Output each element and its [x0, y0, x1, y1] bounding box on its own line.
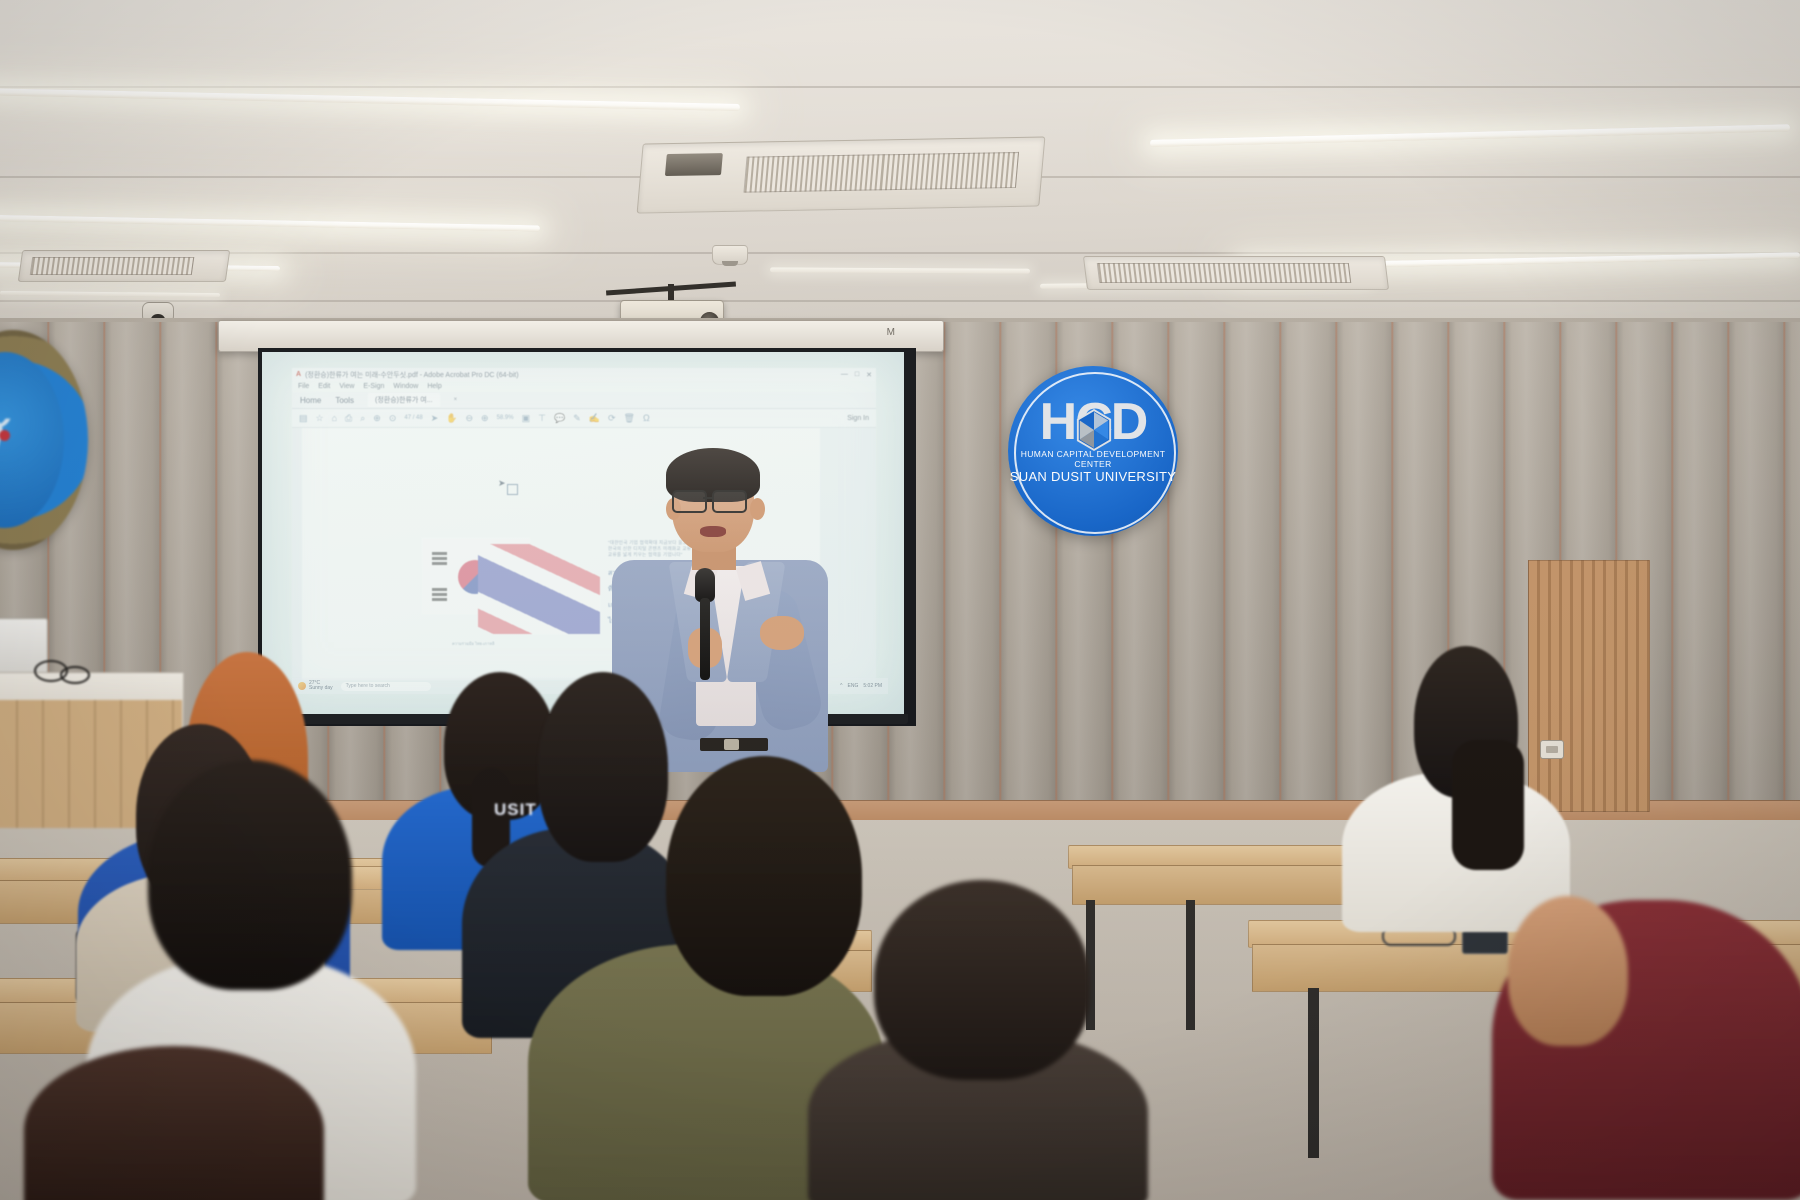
window-controls[interactable]: — □ ✕: [841, 371, 872, 379]
attendee-head: [666, 756, 862, 996]
print-icon[interactable]: ⎙: [345, 414, 352, 423]
hand-tool-icon[interactable]: ✋: [446, 414, 457, 423]
page-indicator[interactable]: 47 / 48: [404, 415, 422, 421]
microphone-head-icon: [695, 568, 715, 602]
desk-leg: [1186, 900, 1195, 1030]
attendee-head: [148, 760, 352, 990]
minimize-icon[interactable]: —: [841, 371, 848, 379]
upload-cloud-icon[interactable]: ⌂: [332, 414, 337, 423]
comment-icon[interactable]: 💬: [554, 414, 565, 423]
ceiling: [0, 0, 1800, 330]
stamp-icon[interactable]: ⟳: [608, 414, 616, 423]
eyeglasses-bridge: [703, 497, 713, 499]
document-tab-close-icon[interactable]: ×: [454, 397, 458, 403]
smartphone-on-desk[interactable]: [1462, 930, 1508, 954]
microphone-body: [700, 598, 710, 680]
screen-case-label: M: [887, 327, 895, 338]
attendee-head: [1508, 896, 1628, 1046]
scroll-mode-icon[interactable]: ⊤: [538, 414, 546, 423]
redact-icon[interactable]: Ω: [643, 414, 650, 423]
acrobat-toolbar[interactable]: ▤ ☆ ⌂ ⎙ ⌕ ⊕ ⊙ 47 / 48 ➤ ✋ ⊖ ⊕ 58.9% ▣ ⊤ …: [292, 409, 876, 428]
polo-logo: USIT: [494, 800, 537, 820]
attendee-head: [874, 880, 1090, 1080]
question-circle-icon[interactable]: ⊕: [373, 414, 381, 423]
acrobat-menu-bar[interactable]: File Edit View E-Sign Window Help: [292, 381, 876, 392]
flags-illustration: [422, 538, 600, 634]
menu-view[interactable]: View: [339, 383, 354, 390]
document-tab[interactable]: (정환승)한류가 여...: [368, 393, 440, 407]
smoke-detector: [712, 245, 748, 265]
sun-icon: [298, 682, 306, 690]
taskbar-search-input[interactable]: Type here to search: [341, 682, 431, 691]
menu-help[interactable]: Help: [427, 383, 441, 390]
led-strip-light: [1150, 124, 1790, 147]
acrobat-title-bar: A (정환승)한류가 여는 미래-수안두싯.pdf - Adobe Acroba…: [292, 368, 876, 381]
laptop-cable: [60, 666, 90, 684]
weather-description: Sunny day: [309, 685, 333, 691]
tab-tools[interactable]: Tools: [335, 396, 354, 405]
weather-widget[interactable]: 27°C Sunny day: [298, 681, 333, 692]
hexagon-aperture-icon: [1075, 408, 1113, 452]
ac-cassette-vent: [18, 250, 230, 282]
selection-marker: [507, 484, 518, 495]
belt-buckle-icon: [724, 739, 739, 750]
led-strip-light: [0, 291, 220, 297]
presenter-ear: [750, 498, 765, 520]
handheld-microphone[interactable]: [695, 568, 715, 678]
led-strip-light: [0, 88, 740, 111]
mouse-cursor-icon: ➤: [498, 478, 506, 489]
sign-in-button[interactable]: Sign In: [847, 415, 869, 422]
zoom-in-icon[interactable]: ⊕: [481, 414, 489, 423]
zoom-level[interactable]: 58.9%: [497, 415, 514, 421]
thailand-flag: [478, 544, 600, 634]
close-icon[interactable]: ✕: [866, 371, 872, 379]
menu-esign[interactable]: E-Sign: [363, 383, 384, 390]
hcd-subtitle-line2: SUAN DUSIT UNIVERSITY: [1008, 469, 1178, 484]
maximize-icon[interactable]: □: [855, 371, 859, 379]
menu-edit[interactable]: Edit: [318, 383, 330, 390]
ac-cassette-vent: [1083, 256, 1389, 290]
acrobat-tab-bar[interactable]: Home Tools (정환승)한류가 여... ×: [292, 392, 876, 409]
search-icon[interactable]: ⌕: [360, 414, 365, 423]
page-fit-icon[interactable]: ▣: [522, 414, 531, 423]
download-circle-icon[interactable]: ⊙: [389, 414, 397, 423]
wood-slat-panel: [1528, 560, 1650, 812]
select-arrow-icon[interactable]: ➤: [431, 414, 439, 423]
led-strip-light: [0, 215, 540, 232]
tab-home[interactable]: Home: [300, 396, 321, 405]
attendee-head: [538, 672, 668, 862]
left-navigation-rail[interactable]: [292, 428, 302, 680]
presenter-gesturing-hand: [760, 616, 804, 650]
hcd-subtitle-line1: HUMAN CAPITAL DEVELOPMENT CENTER: [1008, 449, 1178, 469]
led-strip-light: [770, 267, 1030, 273]
desk-leg: [1308, 988, 1319, 1158]
slide-caption: ความร่วมมือ ไทย-เกาหลี: [452, 640, 494, 647]
clock[interactable]: 5:02 PM: [863, 683, 882, 689]
trash-icon[interactable]: 🗑: [624, 414, 635, 423]
save-icon[interactable]: ▤: [299, 414, 308, 423]
power-outlet: [1540, 740, 1564, 759]
star-icon[interactable]: ☆: [316, 414, 324, 423]
menu-window[interactable]: Window: [393, 383, 418, 390]
highlight-pen-icon[interactable]: ✎: [573, 414, 581, 423]
zoom-out-icon[interactable]: ⊖: [466, 414, 474, 423]
acrobat-app-icon: A: [296, 371, 301, 378]
menu-file[interactable]: File: [298, 383, 309, 390]
attendee-hair-length: [1452, 740, 1524, 870]
window-title: (정환승)한류가 여는 미래-수안두싯.pdf - Adobe Acrobat …: [305, 370, 519, 380]
lecture-hall-photo: ส M A (정환승)한류가 여는 미래-수안두싯.pdf - Adobe Ac…: [0, 0, 1800, 1200]
training-desk-front: [1072, 865, 1366, 905]
eyeglasses-left-lens: [672, 490, 707, 513]
signature-icon[interactable]: ✍: [589, 414, 600, 423]
ac-cassette-vent: [637, 136, 1046, 213]
eyeglasses-right-lens: [712, 490, 747, 513]
presenter-mouth: [700, 526, 726, 537]
